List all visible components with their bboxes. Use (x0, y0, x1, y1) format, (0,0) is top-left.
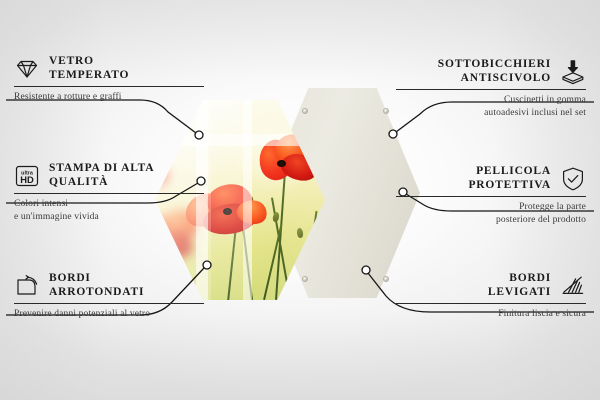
diamond-icon (14, 56, 40, 82)
feature-divider (396, 196, 586, 197)
feature-title: SOTTOBICCHIERI ANTISCIVOLO (438, 58, 551, 85)
feature-title: VETRO TEMPERATO (49, 55, 129, 82)
connector-vetro (6, 100, 196, 133)
feature-title: BORDI LEVIGATI (488, 272, 551, 299)
feature-vetro-temperato: VETRO TEMPERATO Resistente a rotture e g… (14, 55, 204, 104)
feature-description: Prevenire danni potenziali al vetro (14, 308, 204, 321)
connector-endpoint-bordi-arrotondati (203, 261, 211, 269)
feature-bordi-levigati: BORDI LEVIGATI Finitura liscia e sicura (396, 272, 586, 321)
connector-endpoint-sottobicchieri (389, 130, 397, 138)
svg-text:HD: HD (20, 174, 34, 185)
feature-title: STAMPA DI ALTA QUALITÀ (49, 162, 154, 189)
ultra-hd-badge-icon: ultra HD (14, 163, 40, 189)
feature-description: Finitura liscia e sicura (396, 308, 586, 321)
feature-divider (396, 303, 586, 304)
pad-stack-arrow-icon (560, 59, 586, 85)
feature-header: BORDI ARROTONDATI (14, 272, 204, 299)
rounded-corner-icon (14, 273, 40, 299)
feature-header: SOTTOBICCHIERI ANTISCIVOLO (396, 58, 586, 85)
feature-description: Colori intensi e un'immagine vivida (14, 198, 204, 223)
feature-divider (14, 86, 204, 87)
feature-divider (14, 193, 204, 194)
feature-stampa-alta-qualita: ultra HD STAMPA DI ALTA QUALITÀ Colori i… (14, 162, 204, 223)
feature-bordi-arrotondati: BORDI ARROTONDATI Prevenire danni potenz… (14, 272, 204, 321)
feature-pellicola-protettiva: PELLICOLA PROTETTIVA Protegge la parte p… (396, 165, 586, 226)
feature-description: Protegge la parte posteriore del prodott… (396, 201, 586, 226)
feature-divider (396, 89, 586, 90)
feature-header: BORDI LEVIGATI (396, 272, 586, 299)
feature-description: Cuscinetti in gomma autoadesivi inclusi … (396, 94, 586, 119)
connector-endpoint-vetro (195, 131, 203, 139)
feature-header: VETRO TEMPERATO (14, 55, 204, 82)
connector-endpoint-bordi-levigati (362, 266, 370, 274)
feature-title: PELLICOLA PROTETTIVA (468, 165, 551, 192)
feature-title: BORDI ARROTONDATI (49, 272, 144, 299)
feature-description: Resistente a rotture e graffi (14, 91, 204, 104)
feature-header: PELLICOLA PROTETTIVA (396, 165, 586, 192)
feature-header: ultra HD STAMPA DI ALTA QUALITÀ (14, 162, 204, 189)
shield-check-icon (560, 166, 586, 192)
hatched-triangle-icon (560, 273, 586, 299)
feature-sottobicchieri-antiscivolo: SOTTOBICCHIERI ANTISCIVOLO Cuscinetti in… (396, 58, 586, 119)
feature-divider (14, 303, 204, 304)
